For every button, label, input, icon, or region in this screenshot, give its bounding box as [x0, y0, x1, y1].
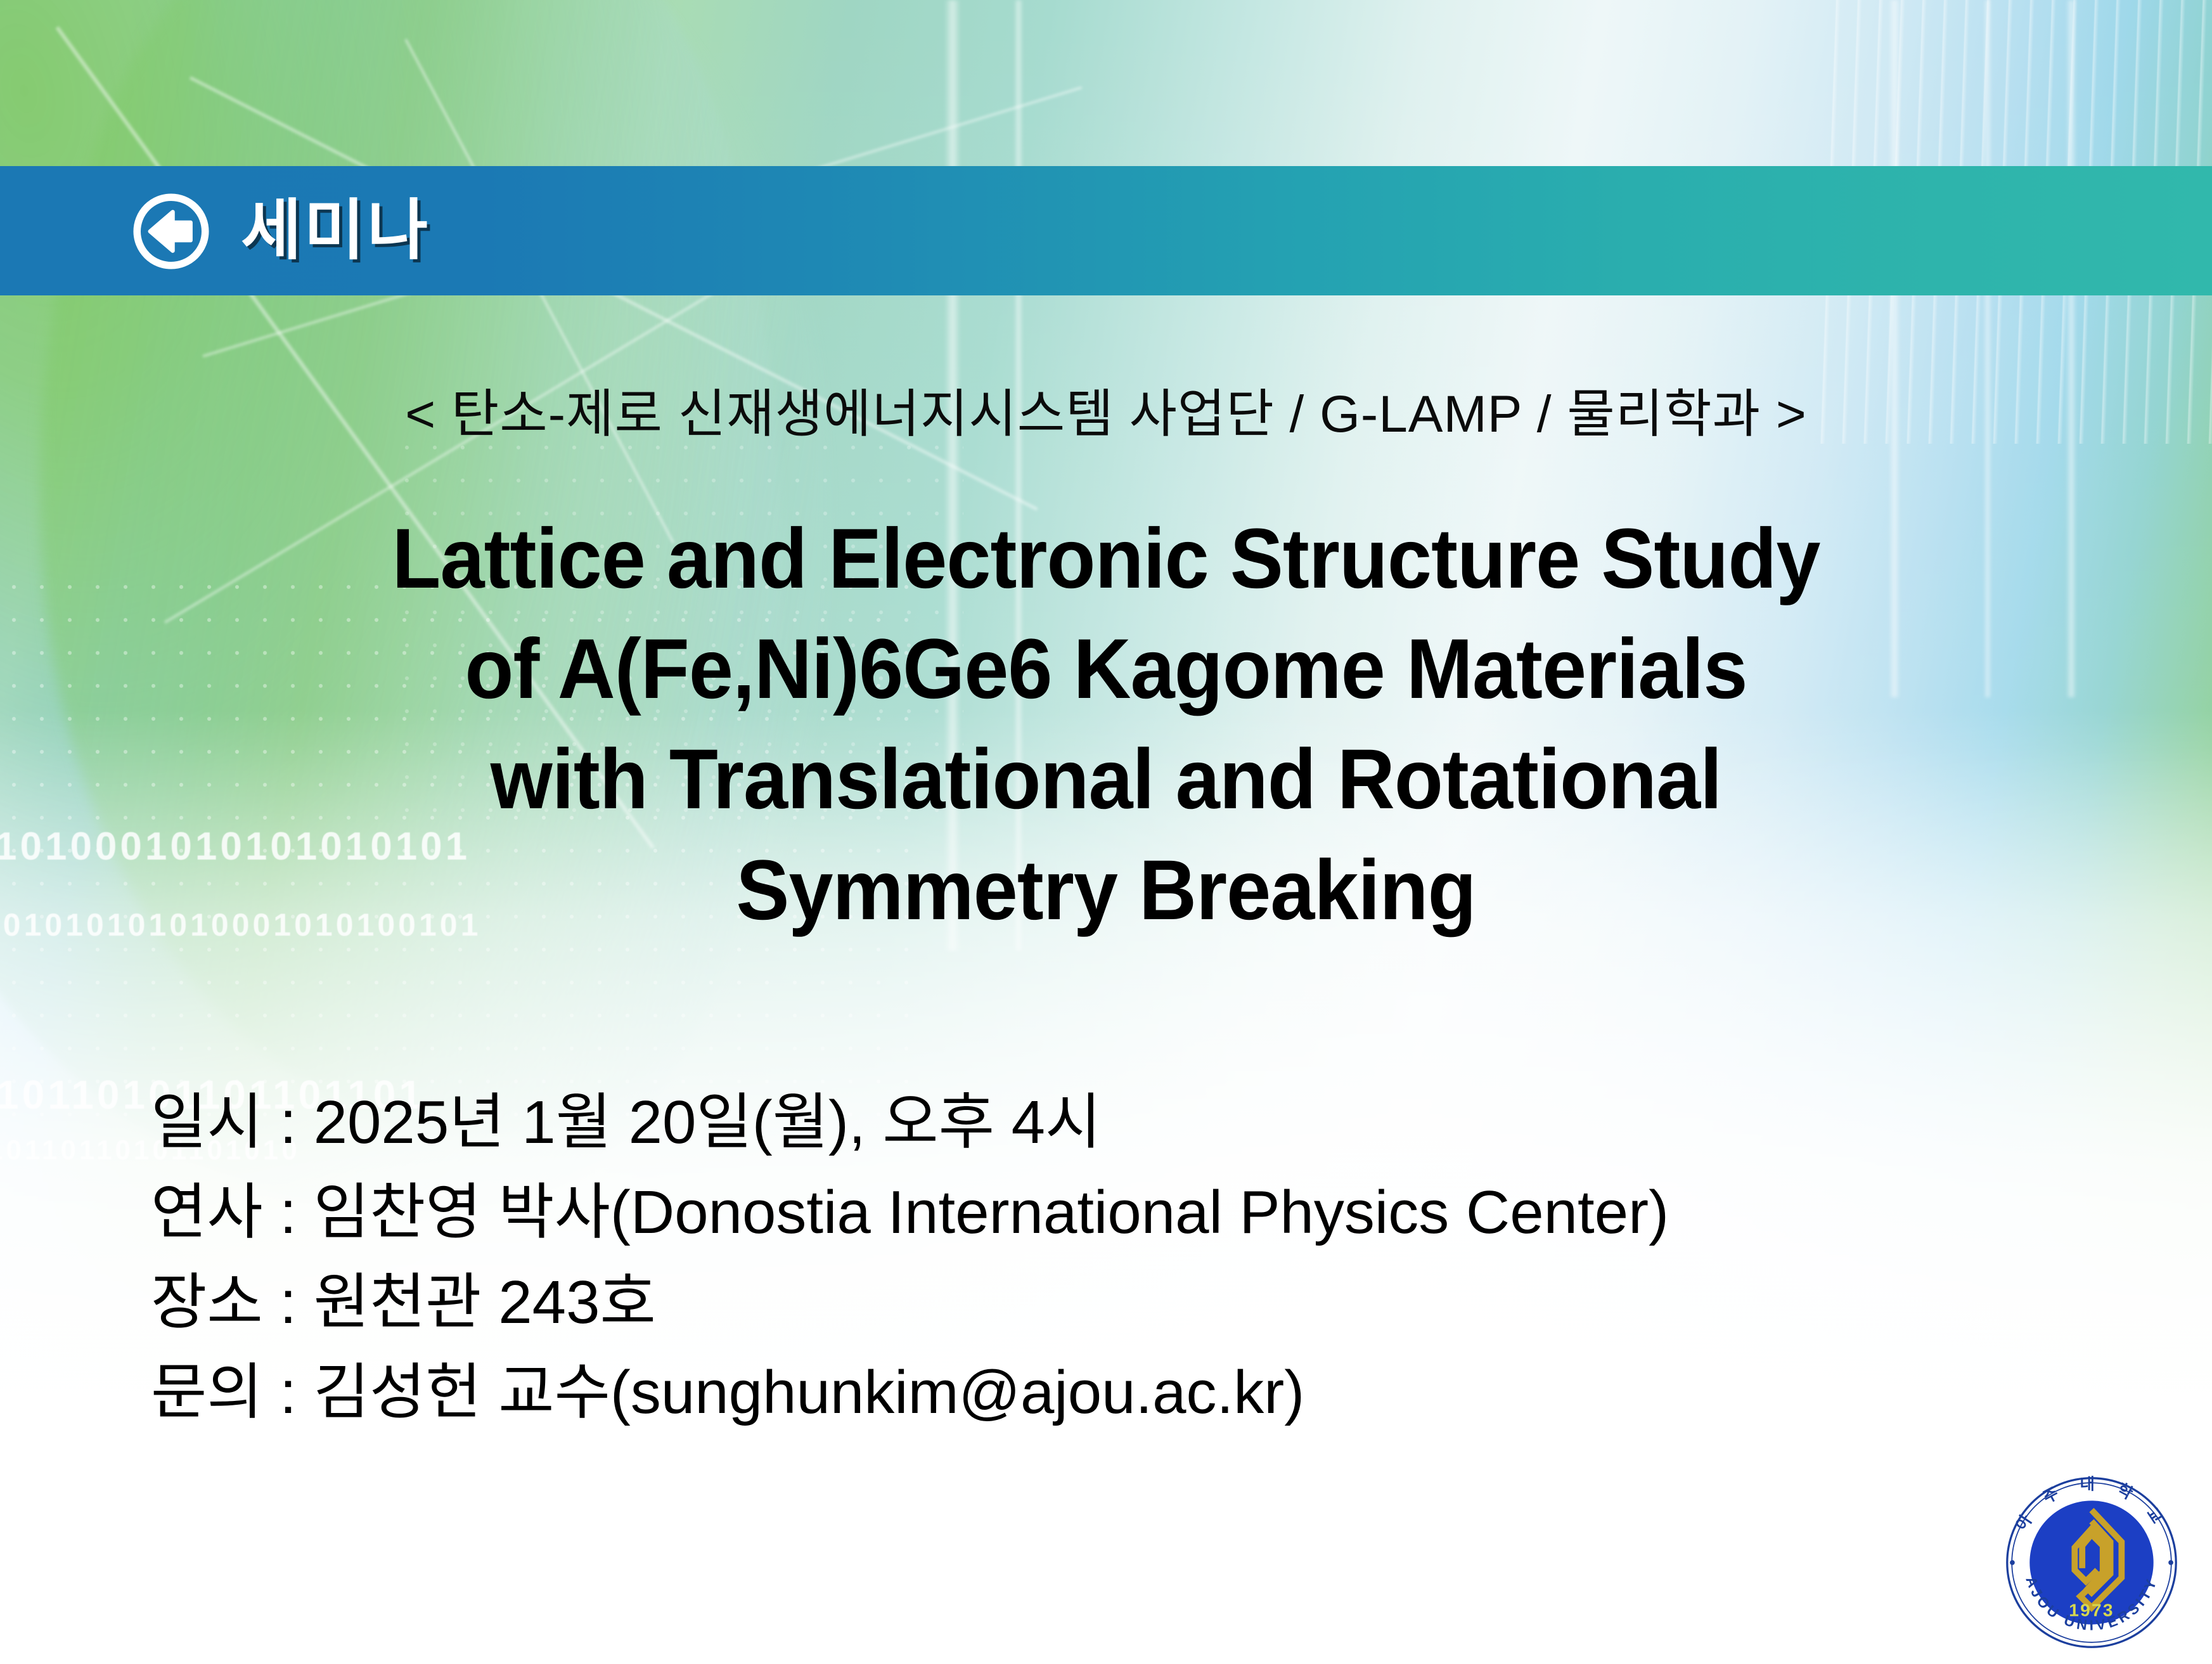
logo-dot-left — [2010, 1560, 2015, 1565]
poster-content: < 탄소-제로 신재생에너지시스템 사업단 / G-LAMP / 물리학과 > … — [0, 0, 2212, 1664]
seminar-poster: 1010001010101010101 10101010101000101010… — [0, 0, 2212, 1664]
title-line-2: of A(Fe,Ni)6Ge6 Kagome Materials — [67, 614, 2146, 725]
seminar-details: 일시 : 2025년 1월 20일(월), 오후 4시 연사 : 임찬영 박사(… — [151, 1078, 2116, 1438]
title-line-1: Lattice and Electronic Structure Study — [67, 504, 2146, 614]
detail-venue: 장소 : 원천관 243호 — [151, 1258, 2116, 1348]
detail-speaker: 연사 : 임찬영 박사(Donostia International Physi… — [151, 1168, 2116, 1258]
detail-contact: 문의 : 김성헌 교수(sunghunkim@ajou.ac.kr) — [151, 1348, 2116, 1438]
logo-dot-right — [2168, 1560, 2173, 1565]
title-line-4: Symmetry Breaking — [67, 835, 2146, 946]
seminar-title: Lattice and Electronic Structure Study o… — [0, 504, 2212, 946]
ajou-university-logo: 아 주 대 학 교 AJOU UNIVERSITY 1973 — [1998, 1469, 2185, 1656]
organizer-subtitle: < 탄소-제로 신재생에너지시스템 사업단 / G-LAMP / 물리학과 > — [0, 371, 2212, 447]
detail-datetime: 일시 : 2025년 1월 20일(월), 오후 4시 — [151, 1078, 2116, 1168]
logo-year: 1973 — [2069, 1600, 2114, 1620]
title-line-3: with Translational and Rotational — [67, 725, 2146, 835]
